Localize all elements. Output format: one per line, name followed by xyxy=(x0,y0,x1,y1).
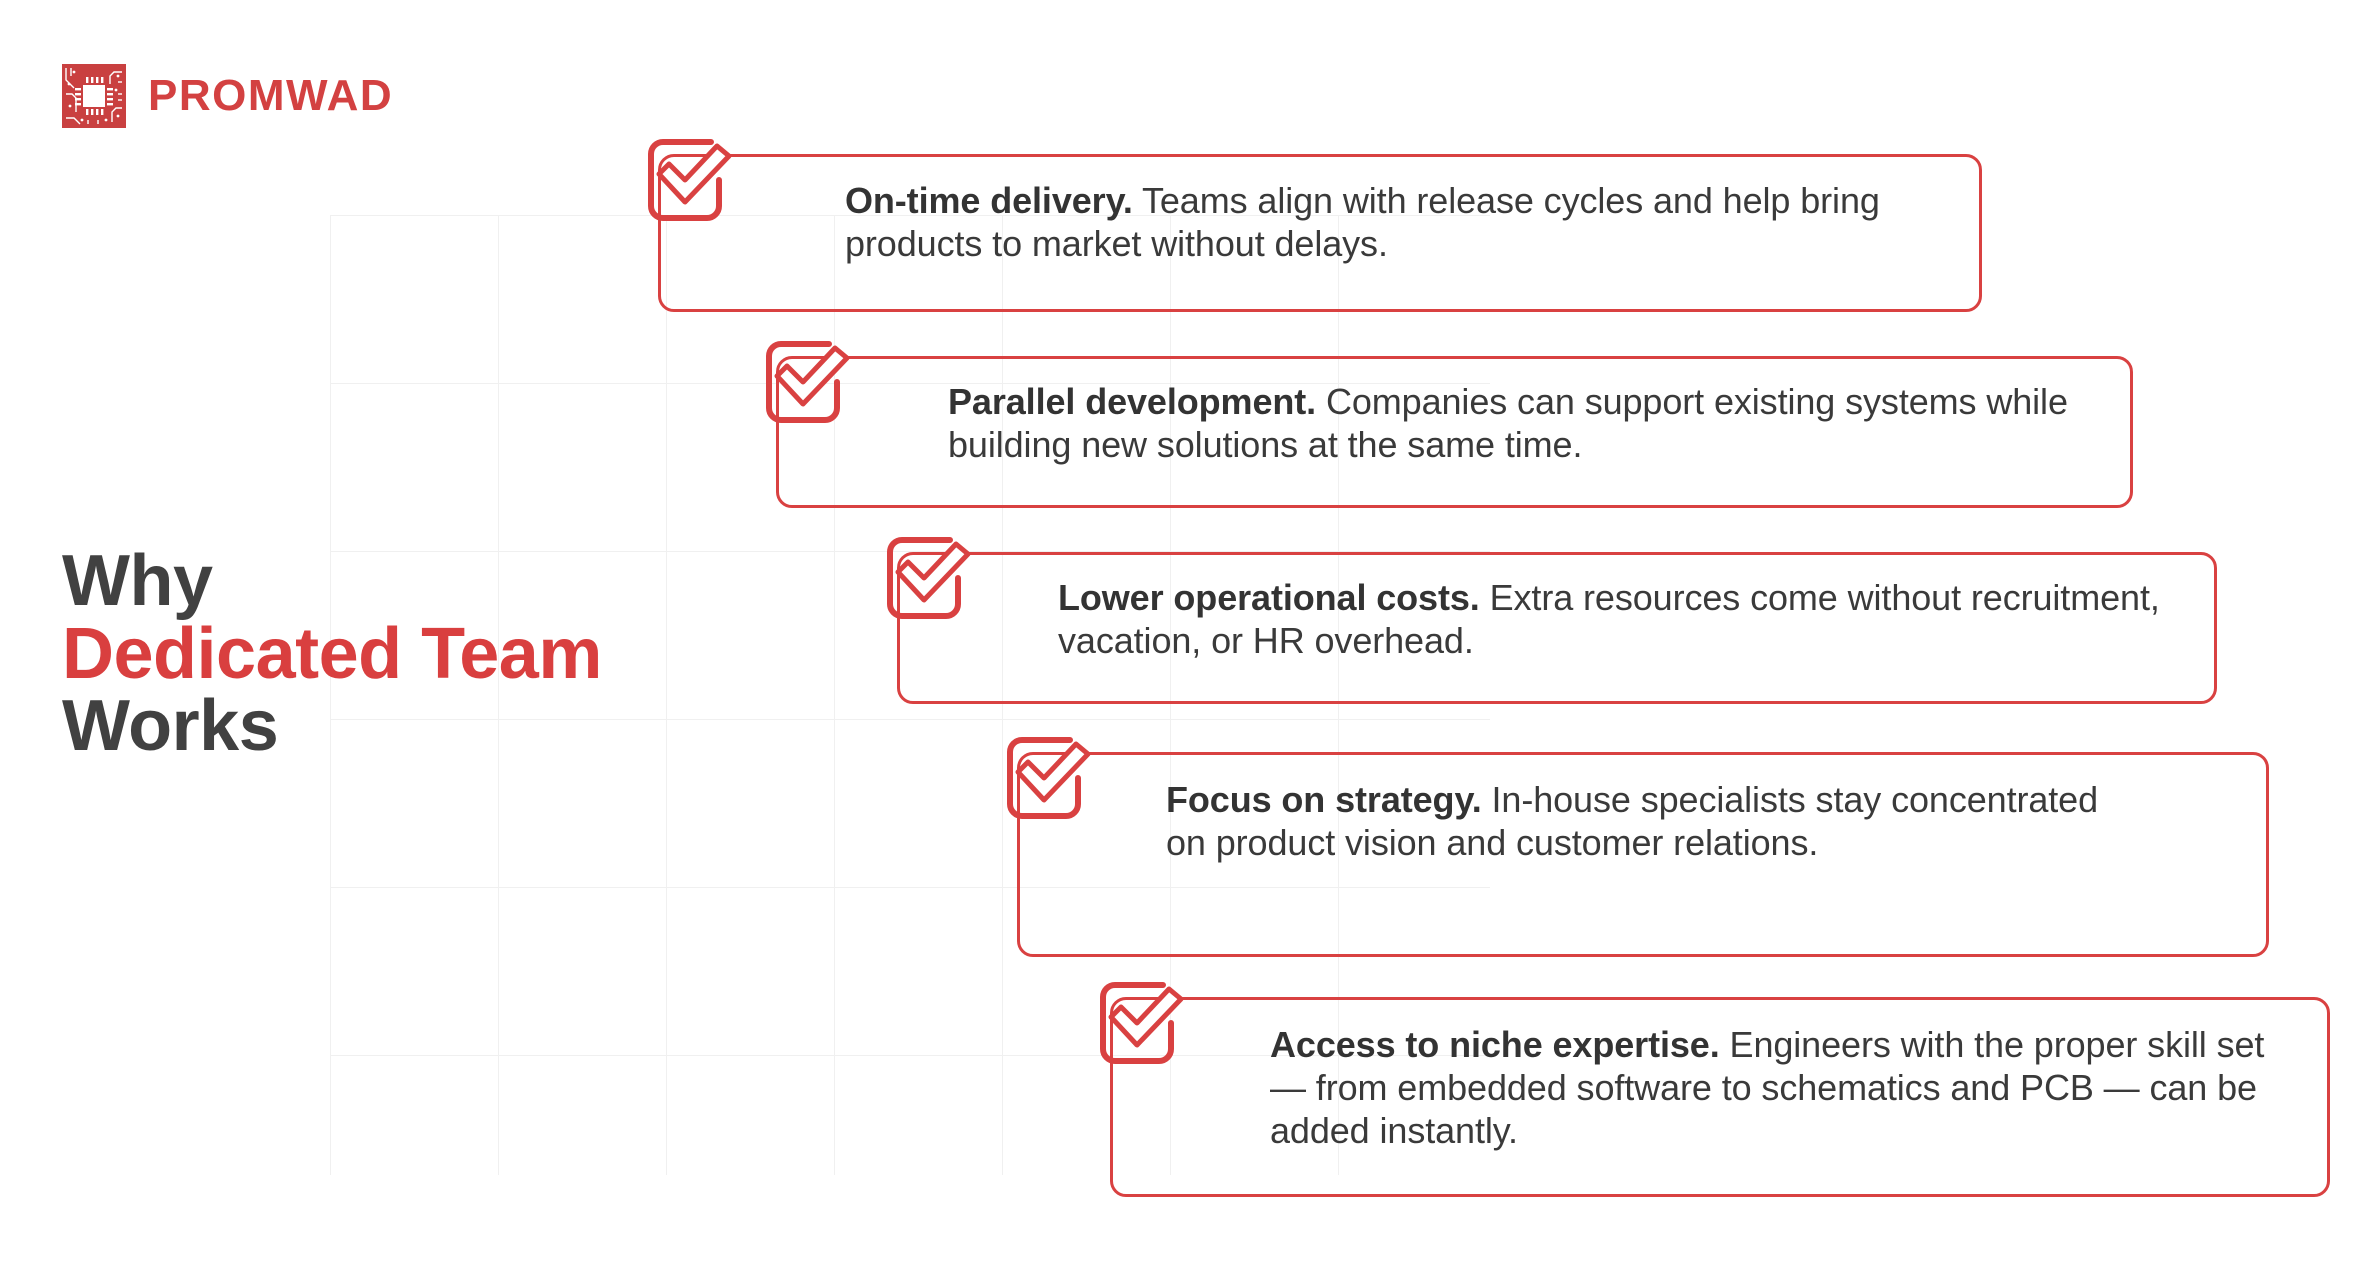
checkmark-icon xyxy=(1004,734,1096,830)
benefit-text: Focus on strategy. In-house specialists … xyxy=(1166,779,2136,865)
page-title: Why Dedicated Team Works xyxy=(62,545,602,763)
pcb-chip-icon xyxy=(62,64,126,128)
checkmark-icon xyxy=(645,136,737,232)
benefit-title: Lower operational costs. xyxy=(1058,577,1480,618)
benefit-title: Parallel development. xyxy=(948,381,1316,422)
benefit-text: Parallel development. Companies can supp… xyxy=(948,381,2088,467)
brand-name: PROMWAD xyxy=(148,74,393,118)
benefit-title: On-time delivery. xyxy=(845,180,1133,221)
benefit-text: Lower operational costs. Extra resources… xyxy=(1058,577,2168,663)
checkmark-icon xyxy=(1097,979,1189,1075)
title-line-1: Why xyxy=(62,545,602,618)
title-line-3: Works xyxy=(62,690,602,763)
benefit-title: Focus on strategy. xyxy=(1166,779,1482,820)
benefit-text: Access to niche expertise. Engineers wit… xyxy=(1270,1024,2270,1152)
slide-canvas: PROMWAD Why Dedicated Team Works On-time… xyxy=(0,0,2370,1275)
brand-logo[interactable]: PROMWAD xyxy=(62,64,393,128)
checkmark-icon xyxy=(763,338,855,434)
benefit-text: On-time delivery. Teams align with relea… xyxy=(845,180,1915,266)
title-line-2: Dedicated Team xyxy=(62,618,602,691)
checkmark-icon xyxy=(884,534,976,630)
benefit-title: Access to niche expertise. xyxy=(1270,1024,1720,1065)
